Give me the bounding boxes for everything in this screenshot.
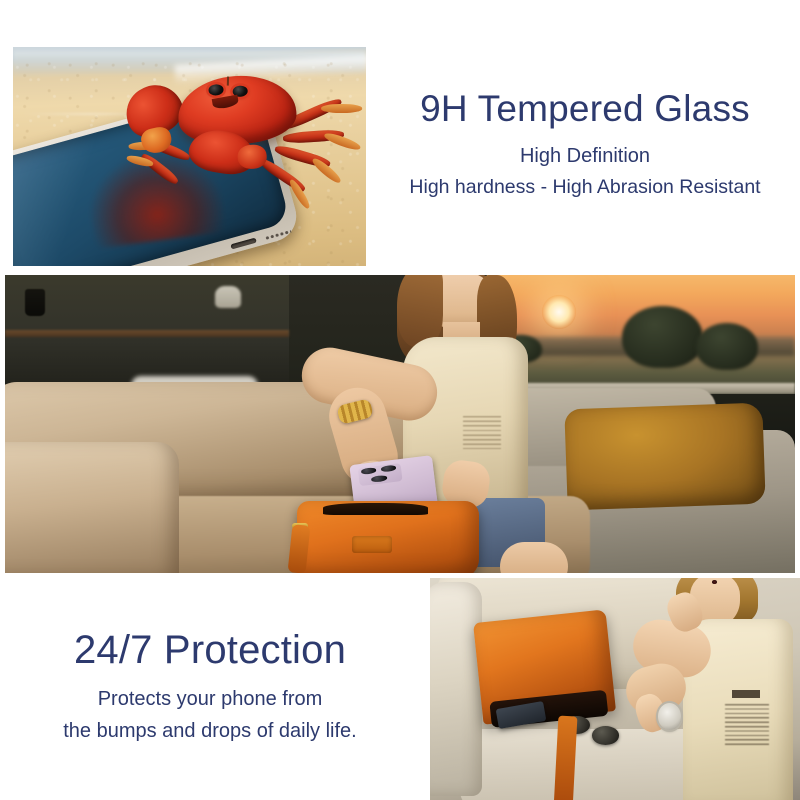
camera-lens xyxy=(371,475,387,482)
open-mouth xyxy=(712,580,717,585)
camera-module xyxy=(358,463,403,486)
ochre-throw-pillow xyxy=(564,403,765,511)
sofa-armrest xyxy=(5,442,179,573)
bag-strap xyxy=(288,524,311,573)
crab-on-phone-beach-photo xyxy=(13,47,366,266)
sofa-armrest xyxy=(430,582,482,795)
crab-mouth xyxy=(212,95,239,110)
crab-leg xyxy=(273,143,331,170)
hair-strand xyxy=(397,275,443,347)
glass-subline-1: High Definition xyxy=(380,144,790,168)
camera-lens xyxy=(360,467,376,474)
camera-lens xyxy=(380,465,396,472)
red-crab xyxy=(129,60,348,222)
shirt-print-text xyxy=(463,416,501,448)
orange-handbag-tipping xyxy=(473,609,616,724)
protection-headline: 24/7 Protection xyxy=(10,628,410,673)
leg xyxy=(500,542,568,573)
protection-feature-text-block: 24/7 Protection Protects your phone from… xyxy=(10,628,410,744)
wristwatch xyxy=(658,703,681,729)
woman-placing-phone-in-bag-photo xyxy=(5,275,795,573)
woman-shocked-bag-spilling-photo xyxy=(430,578,800,800)
protection-subline-1: Protects your phone from xyxy=(10,687,410,712)
orange-handbag xyxy=(297,501,479,573)
shirt-print-title xyxy=(732,690,761,698)
tree-silhouette xyxy=(696,323,758,371)
crab-leg xyxy=(282,129,344,145)
shirt-print-text xyxy=(725,704,769,747)
shelf-board xyxy=(5,330,289,337)
bag-strap xyxy=(553,715,576,800)
bag-leather-tag xyxy=(352,536,392,553)
protection-subline-2: the bumps and drops of daily life. xyxy=(10,719,410,744)
product-infographic: 9H Tempered Glass High Definition High h… xyxy=(0,0,800,800)
dark-vase xyxy=(25,289,45,316)
glass-headline: 9H Tempered Glass xyxy=(380,88,790,129)
bag-opening xyxy=(323,503,428,515)
crab-antenna xyxy=(226,77,228,86)
sunglass-lens xyxy=(592,726,619,744)
tree-silhouette xyxy=(622,306,702,368)
glass-feature-text-block: 9H Tempered Glass High Definition High h… xyxy=(380,88,790,200)
crab-eye xyxy=(208,84,224,97)
table-lamp xyxy=(215,286,241,308)
glass-subline-2: High hardness - High Abrasion Resistant xyxy=(380,176,790,199)
shocked-woman-figure xyxy=(630,578,800,800)
